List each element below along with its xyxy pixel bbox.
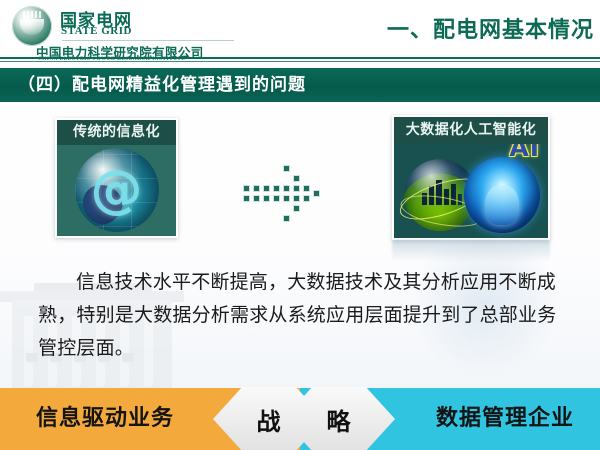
brand-en-name: STATE GRID (61, 25, 132, 37)
strategy-band: 信息驱动业务 数据管理企业 战 略 (0, 388, 600, 450)
hexagon-strategy-second-label: 略 (327, 402, 352, 437)
card-right-caption: 大数据化人工智能化 (394, 117, 548, 144)
header-rule-secondary (0, 61, 600, 62)
brand-divider (62, 40, 234, 41)
subtitle-band: （四）配电网精益化管理遇到的问题 (0, 68, 600, 102)
card-traditional-informatization: @ 传统的信息化 (55, 118, 178, 238)
band-left-label: 信息驱动业务 (36, 388, 174, 450)
brand-logo-block: 国家电网 STATE GRID 中国电力科学研究院有限公司 CHINA ELEC… (8, 4, 338, 58)
globe-at-symbol-icon: @ (75, 148, 159, 232)
pixel-arrow-right-icon (243, 168, 333, 216)
card-right-reflection (392, 240, 550, 262)
ai-head-icon (464, 157, 540, 233)
card-left-caption: 传统的信息化 (57, 120, 176, 145)
subtitle-text: （四）配电网精益化管理遇到的问题 (18, 68, 306, 102)
slide-canvas: 国家电网 STATE GRID 中国电力科学研究院有限公司 CHINA ELEC… (0, 0, 600, 450)
body-paragraph: 信息技术水平不断提高，大数据技术及其分析应用不断成熟，特别是大数据分析需求从系统… (38, 266, 566, 365)
band-right-label: 数据管理企业 (436, 388, 574, 450)
hexagon-strategy-first-label: 战 (257, 402, 282, 437)
at-glyph: @ (75, 148, 159, 232)
header-rule-primary (0, 57, 600, 59)
state-grid-globe-icon (12, 6, 52, 46)
card-bigdata-ai: AI 大数据化人工智能化 (392, 115, 550, 240)
page-title: 一、配电网基本情况 (387, 12, 594, 44)
